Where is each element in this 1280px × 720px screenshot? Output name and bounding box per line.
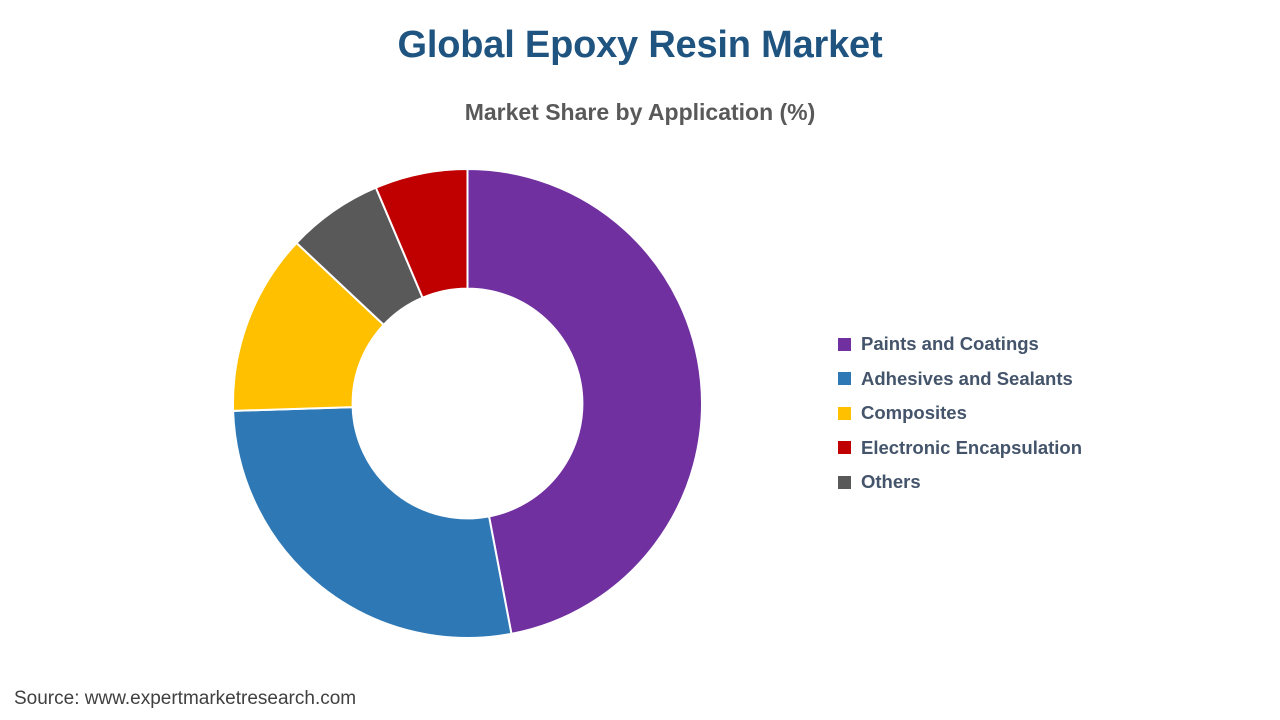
legend-item[interactable]: Electronic Encapsulation xyxy=(838,431,1178,466)
donut-chart-svg xyxy=(233,169,702,638)
legend-item[interactable]: Composites xyxy=(838,396,1178,431)
legend-item-label: Adhesives and Sealants xyxy=(861,368,1073,390)
donut-slice[interactable] xyxy=(233,407,511,638)
legend-swatch-icon xyxy=(838,338,851,351)
legend-swatch-icon xyxy=(838,476,851,489)
legend-item-label: Composites xyxy=(861,402,967,424)
source-note: Source: www.expertmarketresearch.com xyxy=(14,688,356,710)
legend-swatch-icon xyxy=(838,407,851,420)
legend-item[interactable]: Adhesives and Sealants xyxy=(838,362,1178,397)
chart-page: Global Epoxy Resin Market Market Share b… xyxy=(0,0,1280,720)
donut-slice-group xyxy=(233,169,702,638)
legend-swatch-icon xyxy=(838,441,851,454)
legend-item-label: Paints and Coatings xyxy=(861,333,1039,355)
page-title: Global Epoxy Resin Market xyxy=(0,22,1280,68)
legend-item-label: Others xyxy=(861,471,921,493)
donut-slice[interactable] xyxy=(468,169,703,634)
donut-chart xyxy=(233,169,702,638)
chart-legend: Paints and CoatingsAdhesives and Sealant… xyxy=(838,327,1178,500)
legend-item[interactable]: Paints and Coatings xyxy=(838,327,1178,362)
chart-subtitle: Market Share by Application (%) xyxy=(0,96,1280,128)
legend-item-label: Electronic Encapsulation xyxy=(861,437,1082,459)
legend-swatch-icon xyxy=(838,372,851,385)
legend-item[interactable]: Others xyxy=(838,465,1178,500)
